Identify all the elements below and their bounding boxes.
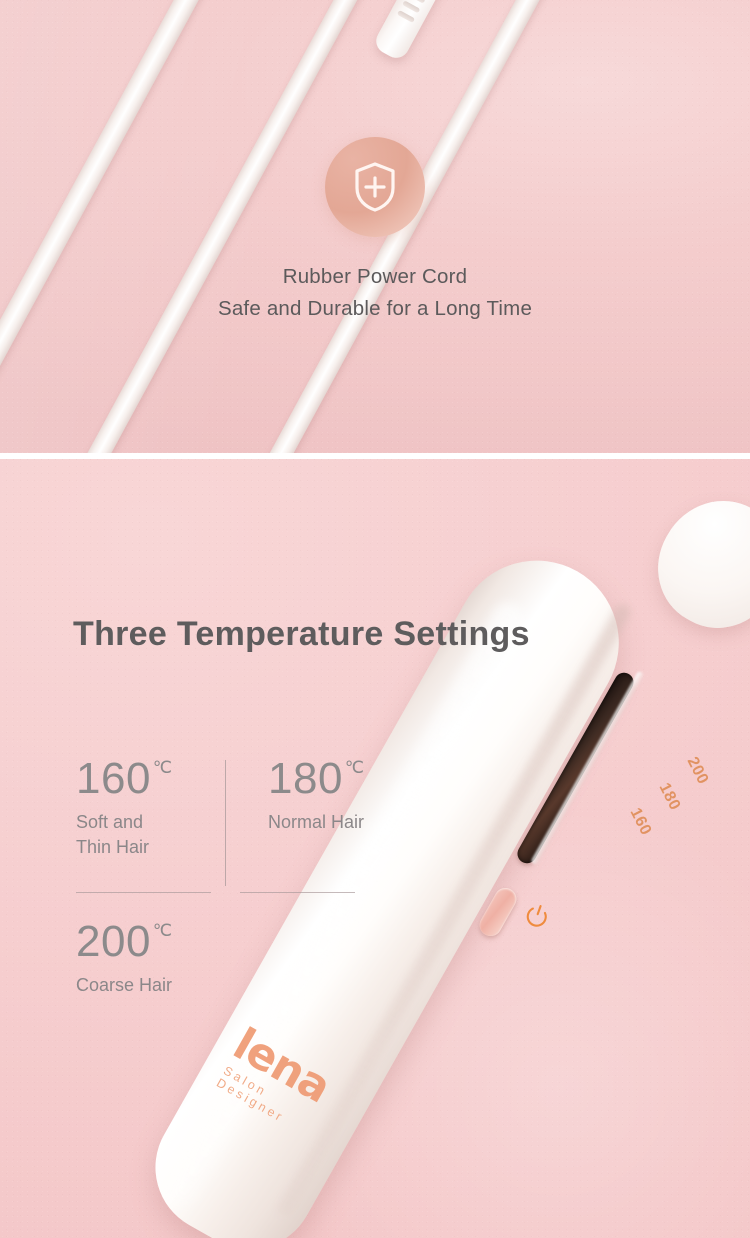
temperature-description-line1: Normal Hair bbox=[268, 810, 365, 835]
temperature-unit: ℃ bbox=[153, 759, 173, 776]
temperature-description-line1: Coarse Hair bbox=[76, 973, 173, 998]
temperature-description-line2: Thin Hair bbox=[76, 835, 173, 860]
temperature-setting-160: 160 ℃ Soft and Thin Hair bbox=[76, 757, 173, 860]
temperature-value: 180 ℃ bbox=[268, 757, 365, 801]
temperature-value: 200 ℃ bbox=[76, 920, 173, 964]
temperature-unit: ℃ bbox=[345, 759, 365, 776]
temperature-number: 200 bbox=[76, 920, 151, 964]
temperature-setting-180: 180 ℃ Normal Hair bbox=[268, 757, 365, 835]
temperature-description: Soft and Thin Hair bbox=[76, 810, 173, 860]
temperature-number: 160 bbox=[76, 757, 151, 801]
temperature-description: Normal Hair bbox=[268, 810, 365, 835]
temperature-settings-list: 160 ℃ Soft and Thin Hair 180 ℃ Normal Ha… bbox=[0, 0, 750, 779]
horizontal-divider bbox=[76, 892, 211, 893]
temperature-value: 160 ℃ bbox=[76, 757, 173, 801]
vertical-divider bbox=[225, 760, 226, 886]
temperature-unit: ℃ bbox=[153, 922, 173, 939]
temperature-description: Coarse Hair bbox=[76, 973, 173, 998]
product-detail-page: Rubber Power Cord Safe and Durable for a… bbox=[0, 0, 750, 1238]
temperature-description-line1: Soft and bbox=[76, 810, 173, 835]
horizontal-divider bbox=[240, 892, 355, 893]
temperature-setting-200: 200 ℃ Coarse Hair bbox=[76, 920, 173, 998]
temperature-number: 180 bbox=[268, 757, 343, 801]
